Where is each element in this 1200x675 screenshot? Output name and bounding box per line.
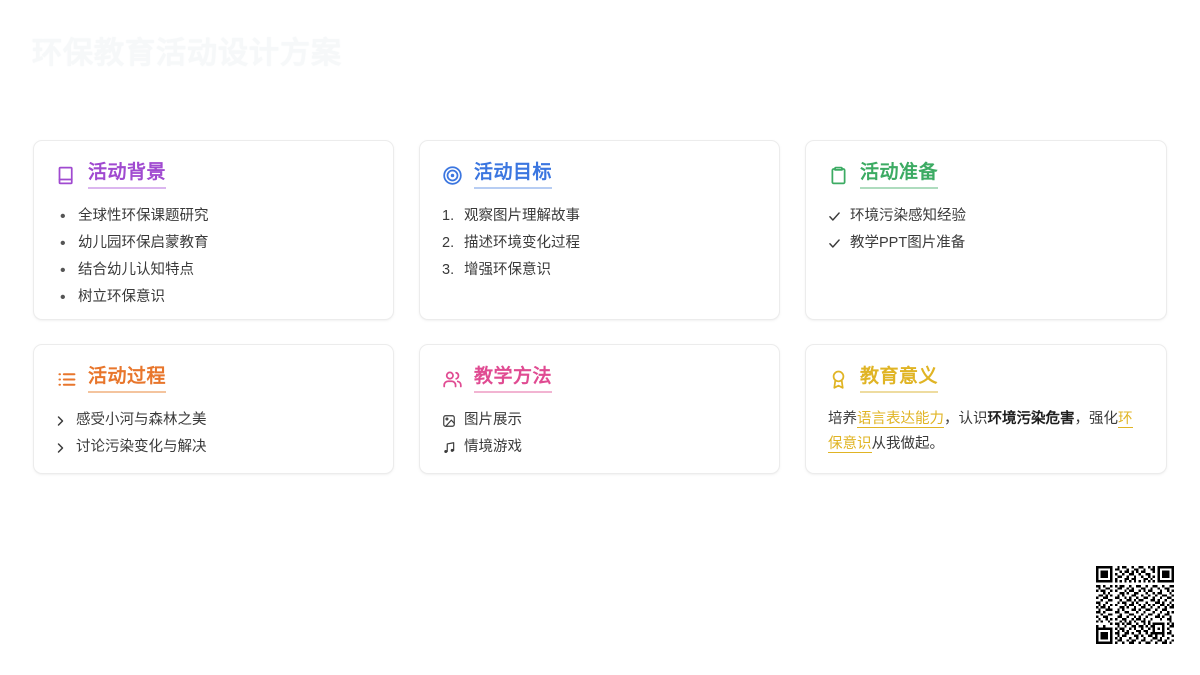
- card-header: 教育意义: [828, 365, 1144, 393]
- list-item: 环境污染感知经验: [828, 203, 1144, 230]
- card-header: 活动过程: [56, 365, 371, 393]
- list-item: 图片展示: [442, 407, 757, 434]
- card-educational-significance[interactable]: 教育意义 培养语言表达能力，认识环境污染危害，强化环保意识从我做起。: [805, 344, 1167, 474]
- card-title: 教育意义: [860, 365, 938, 393]
- list-number: 1.: [442, 203, 464, 230]
- list-item-label: 观察图片理解故事: [464, 203, 757, 230]
- card-title: 活动准备: [860, 161, 938, 189]
- card-activity-background[interactable]: 活动背景 • 全球性环保课题研究 • 幼儿园环保启蒙教育 • 结合幼儿认知特点 …: [33, 140, 394, 320]
- glyph-list: 图片展示 情境游戏: [442, 407, 757, 461]
- list-item-label: 增强环保意识: [464, 257, 757, 284]
- list-item-label: 讨论污染变化与解决: [76, 434, 371, 461]
- list-item-label: 感受小河与森林之美: [76, 407, 371, 434]
- card-title: 活动目标: [474, 161, 552, 189]
- para-bold-pollution-harm: 环境污染危害: [988, 411, 1075, 427]
- numbered-list: 1. 观察图片理解故事 2. 描述环境变化过程 3. 增强环保意识: [442, 203, 757, 284]
- book-icon: [56, 165, 77, 186]
- card-header: 教学方法: [442, 365, 757, 393]
- card-activity-process[interactable]: 活动过程 感受小河与森林之美 讨论污染变化与解决: [33, 344, 394, 474]
- list-item: 2. 描述环境变化过程: [442, 230, 757, 257]
- list-item: 情境游戏: [442, 434, 757, 461]
- card-title: 教学方法: [474, 365, 552, 393]
- card-title: 活动过程: [88, 365, 166, 393]
- list-item: 讨论污染变化与解决: [56, 434, 371, 461]
- card-header: 活动背景: [56, 161, 371, 189]
- chevron-right-icon: [56, 434, 76, 454]
- card-header: 活动准备: [828, 161, 1144, 189]
- check-list: 环境污染感知经验 教学PPT图片准备: [828, 203, 1144, 257]
- qr-code-image: [1096, 566, 1174, 644]
- card-activity-preparation[interactable]: 活动准备 环境污染感知经验 教学PPT图片准备: [805, 140, 1167, 320]
- list-item: 3. 增强环保意识: [442, 257, 757, 284]
- bullet-dot-icon: •: [56, 230, 78, 257]
- music-note-icon: [442, 434, 464, 455]
- image-icon: [442, 407, 464, 428]
- list-item-label: 结合幼儿认知特点: [78, 257, 371, 284]
- list-number: 2.: [442, 230, 464, 257]
- bullet-dot-icon: •: [56, 284, 78, 311]
- qr-code[interactable]: [1096, 566, 1174, 644]
- list-item: • 幼儿园环保启蒙教育: [56, 230, 371, 257]
- list-item-label: 全球性环保课题研究: [78, 203, 371, 230]
- card-grid: 活动背景 • 全球性环保课题研究 • 幼儿园环保启蒙教育 • 结合幼儿认知特点 …: [33, 140, 1167, 474]
- chevron-right-icon: [56, 407, 76, 427]
- list-item: 1. 观察图片理解故事: [442, 203, 757, 230]
- para-segment: ，认识: [944, 411, 988, 427]
- bullet-list: • 全球性环保课题研究 • 幼儿园环保启蒙教育 • 结合幼儿认知特点 • 树立环…: [56, 203, 371, 311]
- list-item-label: 树立环保意识: [78, 284, 371, 311]
- list-item: • 结合幼儿认知特点: [56, 257, 371, 284]
- chevron-list: 感受小河与森林之美 讨论污染变化与解决: [56, 407, 371, 461]
- list-item-label: 图片展示: [464, 407, 757, 434]
- list-number: 3.: [442, 257, 464, 284]
- significance-paragraph: 培养语言表达能力，认识环境污染危害，强化环保意识从我做起。: [828, 407, 1144, 457]
- page-title: 环保教育活动设计方案: [32, 36, 342, 72]
- bullet-dot-icon: •: [56, 257, 78, 284]
- list-item-label: 情境游戏: [464, 434, 757, 461]
- para-segment: 从我做起。: [872, 436, 945, 452]
- card-title: 活动背景: [88, 161, 166, 189]
- card-header: 活动目标: [442, 161, 757, 189]
- card-teaching-methods[interactable]: 教学方法 图片展示: [419, 344, 780, 474]
- para-segment: ，强化: [1075, 411, 1119, 427]
- award-icon: [828, 369, 849, 390]
- list-icon: [56, 369, 77, 390]
- list-item: • 树立环保意识: [56, 284, 371, 311]
- clipboard-icon: [828, 165, 849, 186]
- check-icon: [828, 230, 850, 250]
- target-icon: [442, 165, 463, 186]
- list-item: 感受小河与森林之美: [56, 407, 371, 434]
- list-item: • 全球性环保课题研究: [56, 203, 371, 230]
- list-item-label: 描述环境变化过程: [464, 230, 757, 257]
- para-segment: 培养: [828, 411, 857, 427]
- bullet-dot-icon: •: [56, 203, 78, 230]
- check-icon: [828, 203, 850, 223]
- list-item-label: 教学PPT图片准备: [850, 230, 1144, 257]
- list-item-label: 环境污染感知经验: [850, 203, 1144, 230]
- card-activity-goal[interactable]: 活动目标 1. 观察图片理解故事 2. 描述环境变化过程 3. 增强环保意识: [419, 140, 780, 320]
- para-link-language-ability[interactable]: 语言表达能力: [857, 411, 944, 428]
- people-icon: [442, 369, 463, 390]
- list-item-label: 幼儿园环保启蒙教育: [78, 230, 371, 257]
- list-item: 教学PPT图片准备: [828, 230, 1144, 257]
